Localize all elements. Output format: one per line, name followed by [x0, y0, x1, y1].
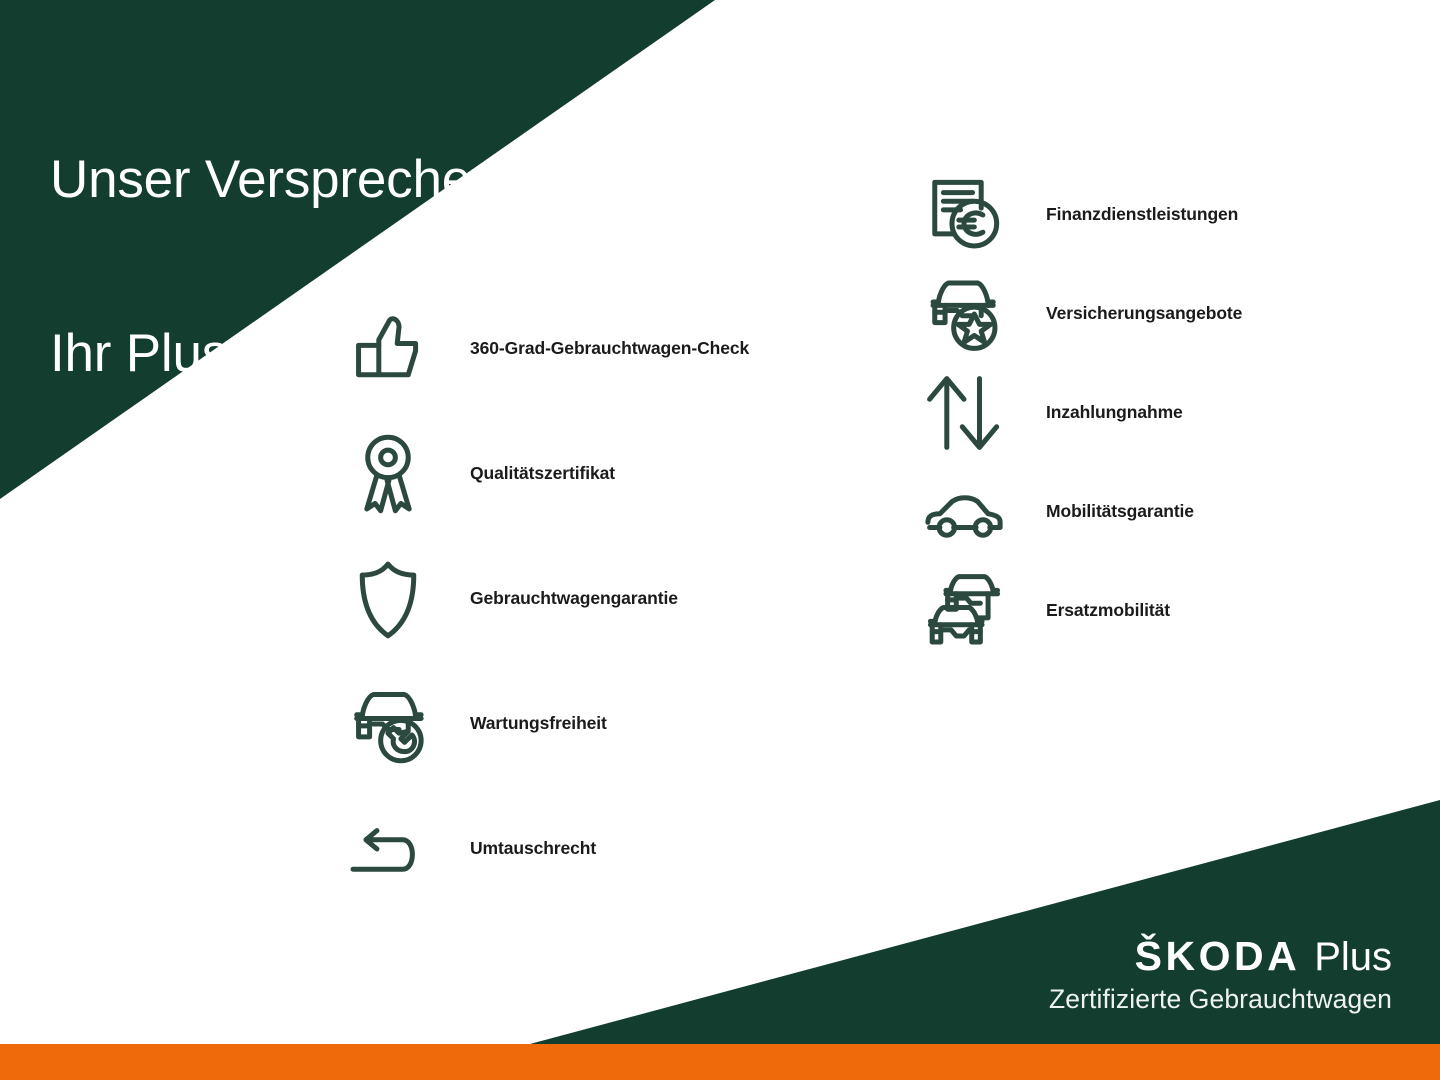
brand-lockup: ŠKODA Plus Zertifizierte Gebrauchtwagen: [1049, 936, 1392, 1013]
feature-column-left: 360-Grad-Gebrauchtwagen-Check Qualitätsz…: [336, 286, 896, 911]
feature-label: Wartungsfreiheit: [470, 713, 607, 734]
feature-label: 360-Grad-Gebrauchtwagen-Check: [470, 338, 749, 359]
award-rosette-icon: [336, 426, 440, 522]
poster-canvas: Unser Versprechen. Ihr Plus. 360-Grad-Ge…: [0, 0, 1440, 1080]
feature-label: Umtauschrecht: [470, 838, 596, 859]
feature-item-warranty: Gebrauchtwagengarantie: [336, 536, 896, 661]
feature-item-insurance-offers: Versicherungsangebote: [912, 264, 1372, 363]
document-euro-icon: [912, 167, 1016, 263]
car-wrench-icon: [336, 676, 440, 772]
shield-icon: [336, 551, 440, 647]
thumbs-up-icon: [336, 301, 440, 397]
up-down-arrows-icon: [912, 365, 1016, 461]
feature-label: Mobilitätsgarantie: [1046, 501, 1194, 522]
feature-label: Gebrauchtwagengarantie: [470, 588, 678, 609]
orange-bottom-bar: [0, 1044, 1440, 1080]
feature-item-financial-services: Finanzdienstleistungen: [912, 165, 1372, 264]
feature-item-quality-certificate: Qualitätszertifikat: [336, 411, 896, 536]
feature-item-exchange-right: Umtauschrecht: [336, 786, 896, 911]
feature-column-right: Finanzdienstleistungen Versicherungsange…: [912, 165, 1372, 660]
plus-wordmark: Plus: [1314, 937, 1392, 977]
feature-label: Versicherungsangebote: [1046, 303, 1242, 324]
car-star-icon: [912, 266, 1016, 362]
feature-label: Inzahlungnahme: [1046, 402, 1183, 423]
return-arrow-icon: [336, 801, 440, 897]
feature-item-trade-in: Inzahlungnahme: [912, 363, 1372, 462]
feature-item-360-check: 360-Grad-Gebrauchtwagen-Check: [336, 286, 896, 411]
feature-item-replacement-mobility: Ersatzmobilität: [912, 561, 1372, 660]
feature-item-maintenance-free: Wartungsfreiheit: [336, 661, 896, 786]
brand-wordmark-row: ŠKODA Plus: [1049, 936, 1392, 977]
feature-label: Qualitätszertifikat: [470, 463, 615, 484]
feature-item-mobility-guarantee: Mobilitätsgarantie: [912, 462, 1372, 561]
feature-label: Finanzdienstleistungen: [1046, 204, 1238, 225]
brand-tagline: Zertifizierte Gebrauchtwagen: [1049, 986, 1392, 1013]
car-side-icon: [912, 464, 1016, 560]
skoda-wordmark: ŠKODA: [1135, 936, 1301, 977]
page-title-line-1: Unser Versprechen.: [50, 151, 515, 209]
feature-label: Ersatzmobilität: [1046, 600, 1170, 621]
two-cars-icon: [912, 563, 1016, 659]
